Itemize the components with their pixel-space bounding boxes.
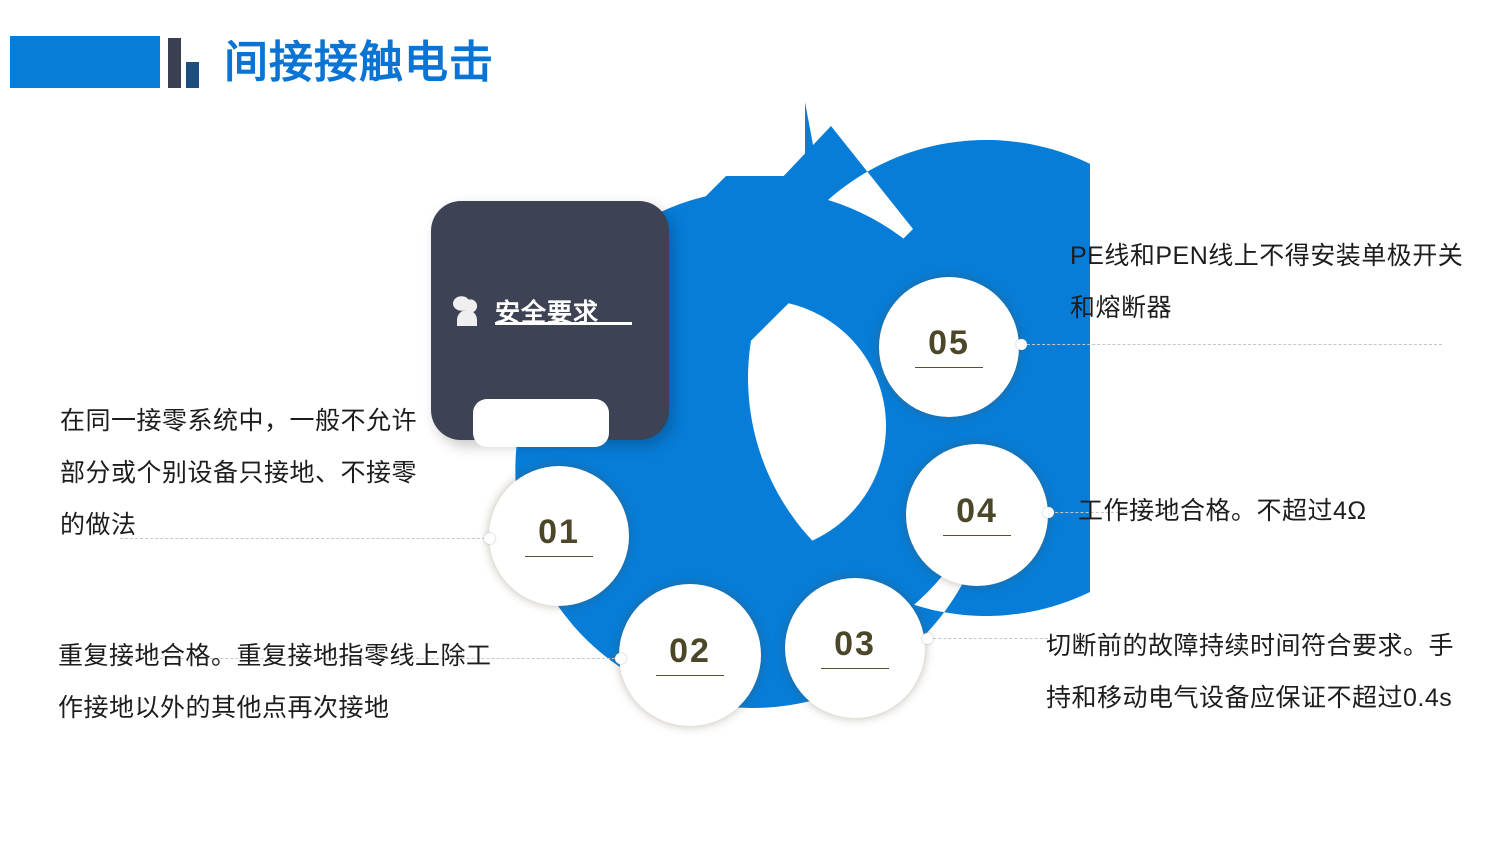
step-text-03: 切断前的故障持续时间符合要求。手持和移动电气设备应保证不超过0.4s [1046, 620, 1466, 724]
card-notch [473, 399, 609, 447]
step-circle-02[interactable]: 02 [619, 584, 761, 726]
step-number-04: 04 [956, 494, 998, 528]
header-tick-blue-icon [186, 62, 199, 88]
connector-dot-05 [1016, 339, 1027, 350]
step-number-underline [525, 556, 593, 558]
step-circle-03[interactable]: 03 [785, 578, 925, 718]
header-accent-bar [10, 36, 160, 88]
connector-line-03 [928, 638, 1048, 639]
connector-line-05 [1022, 344, 1442, 345]
connector-dot-03 [922, 633, 933, 644]
step-circle-05[interactable]: 05 [879, 277, 1019, 417]
step-circle-04[interactable]: 04 [906, 444, 1048, 586]
step-number-03: 03 [834, 627, 876, 661]
connector-dot-04 [1043, 507, 1054, 518]
step-number-underline [943, 535, 1011, 537]
step-number-05: 05 [928, 326, 970, 360]
slide-canvas: 间接接触电击 安全要求 01 02 03 04 [0, 0, 1500, 844]
connector-dot-02 [615, 653, 626, 664]
step-number-02: 02 [669, 634, 711, 668]
step-text-02: 重复接地合格。重复接地指零线上除工作接地以外的其他点再次接地 [58, 630, 508, 734]
header-tick-dark-icon [168, 38, 181, 88]
card-content: 安全要求 [451, 283, 651, 339]
card-label-underline [495, 322, 632, 325]
step-text-05: PE线和PEN线上不得安装单极开关和熔断器 [1070, 230, 1470, 334]
people-icon [451, 295, 485, 327]
step-text-04: 工作接地合格。不超过4Ω [1078, 485, 1478, 537]
step-number-01: 01 [538, 515, 580, 549]
step-number-underline [821, 668, 889, 670]
step-number-underline [915, 367, 983, 369]
step-text-01: 在同一接零系统中，一般不允许部分或个别设备只接地、不接零的做法 [60, 395, 440, 551]
page-title: 间接接触电击 [224, 36, 494, 90]
step-number-underline [656, 675, 724, 677]
connector-dot-01 [484, 533, 495, 544]
step-circle-01[interactable]: 01 [489, 466, 629, 606]
